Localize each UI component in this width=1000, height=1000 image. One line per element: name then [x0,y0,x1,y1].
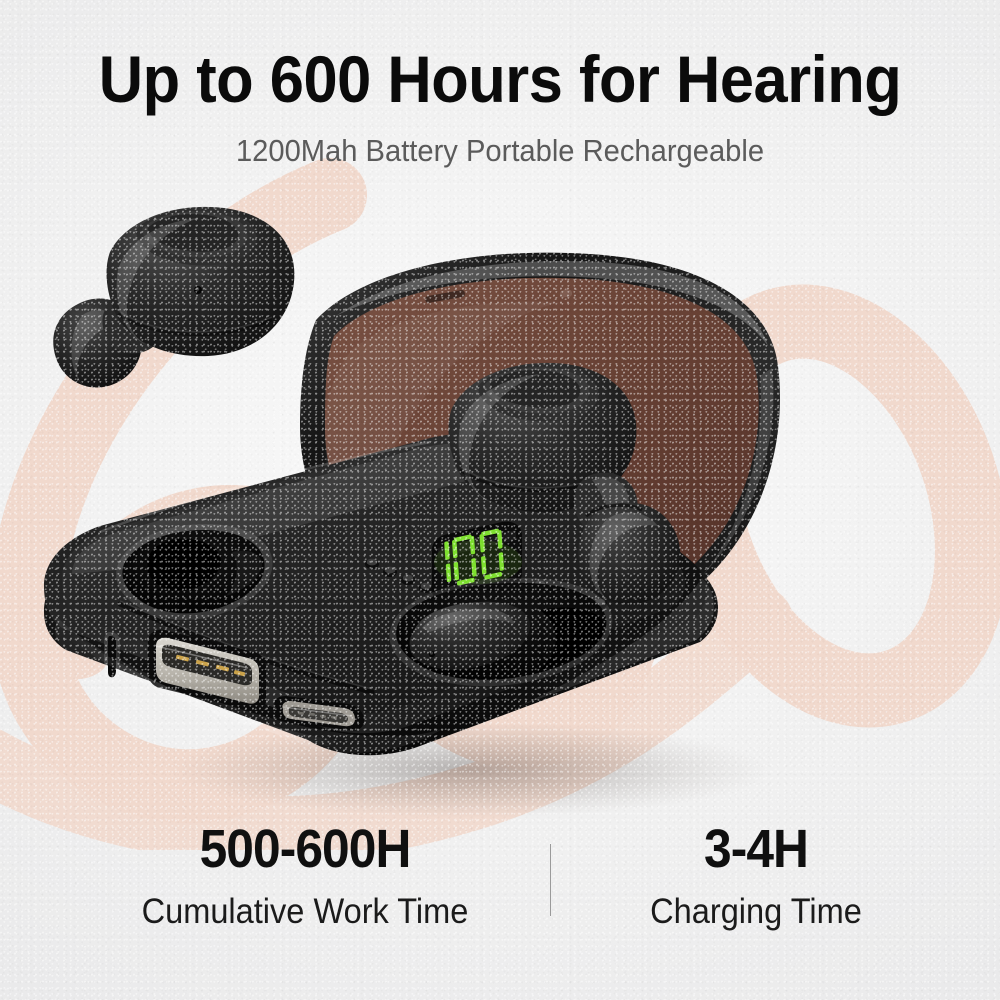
page-headline: Up to 600 Hours for Hearing [35,46,965,112]
stat-label-charging-time: Charging Time [570,894,942,929]
stat-charging-time: 3-4H Charging Time [556,822,956,929]
page-subheadline: 1200Mah Battery Portable Rechargeable [30,135,970,166]
stats-divider [550,844,551,916]
stat-label-work-time: Cumulative Work Time [77,894,533,929]
product-illustration [0,180,1000,820]
product-marketing-poster: Up to 600 Hours for Hearing 1200Mah Batt… [0,0,1000,1000]
product-shadow [170,722,770,818]
stat-cumulative-work-time: 500-600H Cumulative Work Time [60,822,550,929]
stat-value-charging-time: 3-4H [572,822,940,876]
earbud-upper-left [53,207,294,388]
stat-value-work-time: 500-600H [80,822,531,876]
stats-row: 500-600H Cumulative Work Time 3-4H Charg… [0,822,1000,942]
